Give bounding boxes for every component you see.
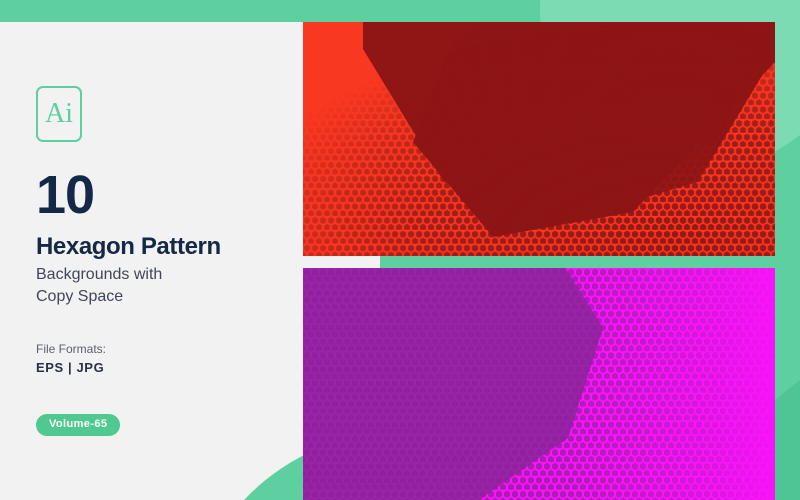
poster-canvas: Ai 10 Hexagon Pattern Backgrounds with C…: [0, 0, 800, 500]
adobe-illustrator-logo-icon: Ai: [36, 86, 82, 142]
subtitle-line-2: Copy Space: [36, 286, 266, 308]
info-column: Ai 10 Hexagon Pattern Backgrounds with C…: [36, 0, 286, 500]
red-banner-hexagon-pattern: [303, 22, 775, 256]
logo-text: Ai: [45, 100, 73, 128]
page-title: Hexagon Pattern: [36, 234, 221, 260]
preview-magenta-hexagon-banner: [303, 268, 775, 500]
volume-badge: Volume-65: [36, 414, 120, 436]
file-formats-label: File Formats:: [36, 342, 106, 356]
preview-red-hexagon-banner: [303, 22, 775, 256]
divider-notch: [303, 256, 380, 268]
file-formats-value: EPS | JPG: [36, 360, 104, 375]
green-divider-strip: [303, 256, 775, 268]
item-count: 10: [36, 168, 94, 222]
magenta-banner-hexagon-pattern: [303, 268, 775, 500]
subtitle-line-1: Backgrounds with: [36, 264, 266, 286]
page-subtitle: Backgrounds with Copy Space: [36, 264, 266, 307]
